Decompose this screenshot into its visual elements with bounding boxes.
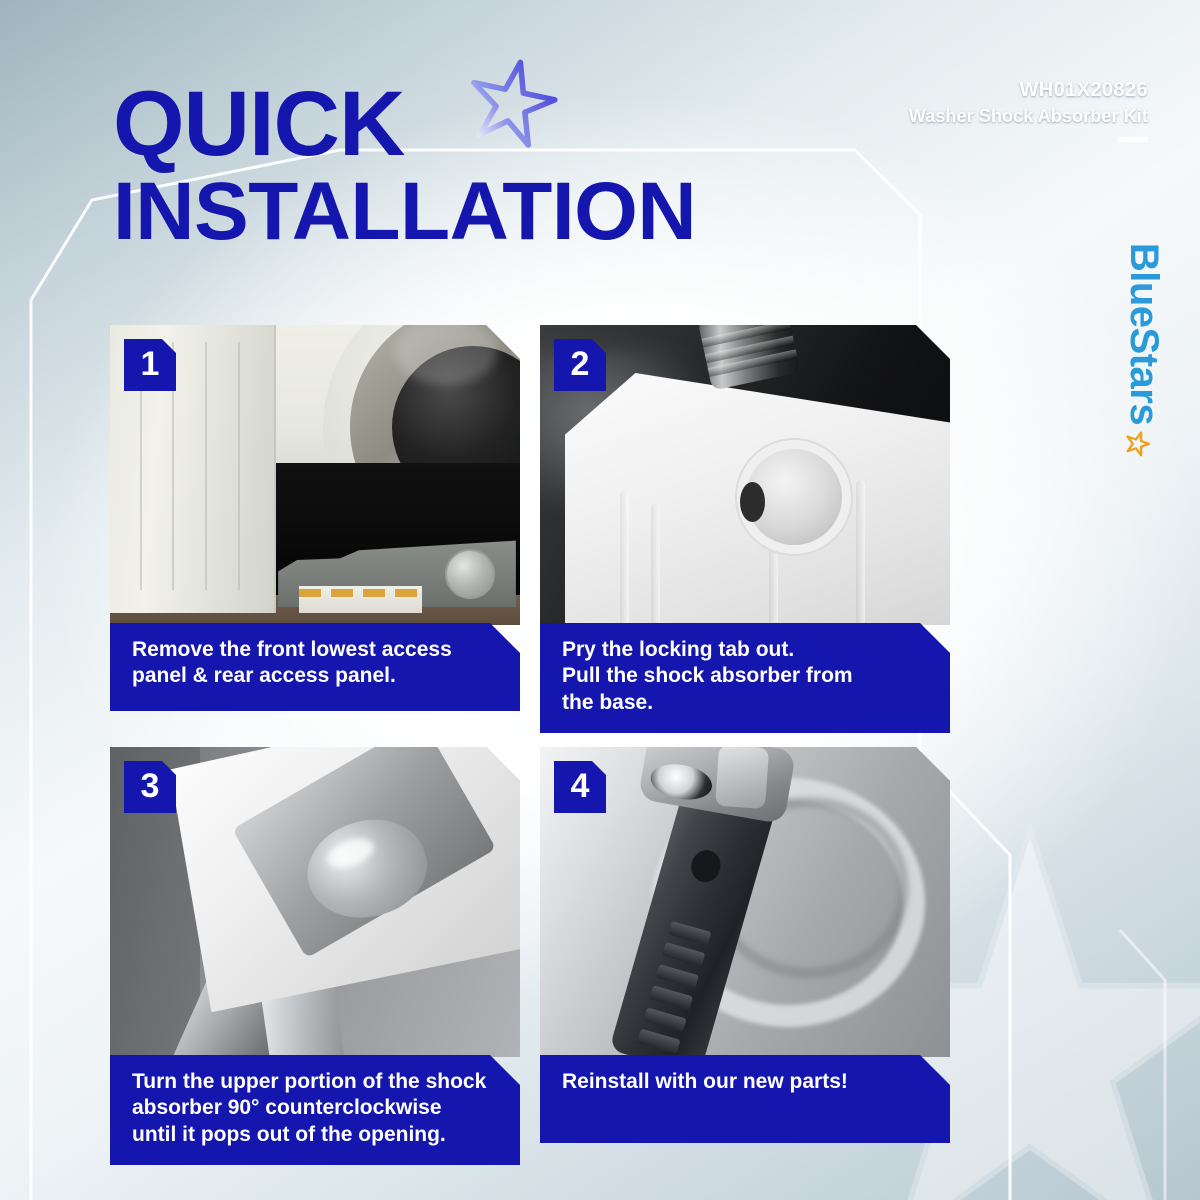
step-number-badge-1: 1 — [124, 339, 176, 391]
step-photo-4: 4 — [540, 747, 950, 1057]
header-rule — [1118, 137, 1148, 142]
product-name: Washer Shock Absorber Kit — [909, 104, 1148, 128]
step-card-3: 3 Turn the upper portion of the shock ab… — [110, 747, 520, 1165]
step-number-badge-2: 2 — [554, 339, 606, 391]
infographic-page: WH01X20826 Washer Shock Absorber Kit QUI… — [0, 0, 1200, 1200]
page-title-line-1: QUICK — [113, 82, 696, 168]
page-title-line-2: INSTALLATION — [113, 174, 696, 250]
step-caption-2-line-2: Pull the shock absorber from — [562, 663, 928, 689]
step-caption-1: Remove the front lowest access panel & r… — [110, 623, 520, 711]
step-card-2: 2 Pry the locking tab out. Pull the shoc… — [540, 325, 950, 733]
step-card-4: 4 Reinstall with our new parts! — [540, 747, 950, 1165]
step-caption-4-line-1: Reinstall with our new parts! — [562, 1069, 928, 1095]
brand-star-icon — [1125, 431, 1151, 457]
product-header: WH01X20826 Washer Shock Absorber Kit — [909, 78, 1148, 142]
step-photo-1: 1 — [110, 325, 520, 625]
step-caption-2: Pry the locking tab out. Pull the shock … — [540, 623, 950, 733]
step-card-1: 1 Remove the front lowest access panel &… — [110, 325, 520, 733]
step-caption-3-line-3: until it pops out of the opening. — [132, 1122, 498, 1148]
page-title: QUICK INSTALLATION — [113, 82, 696, 250]
step-caption-3: Turn the upper portion of the shock abso… — [110, 1055, 520, 1165]
sku-code: WH01X20826 — [909, 78, 1148, 103]
step-caption-1-line-2: panel & rear access panel. — [132, 663, 498, 689]
steps-grid: 1 Remove the front lowest access panel &… — [110, 325, 950, 1165]
step-caption-4: Reinstall with our new parts! — [540, 1055, 950, 1143]
step-photo-2: 2 — [540, 325, 950, 625]
title-star-icon — [457, 47, 566, 156]
step-number-badge-4: 4 — [554, 761, 606, 813]
step-number-badge-3: 3 — [124, 761, 176, 813]
step-caption-2-line-3: the base. — [562, 690, 928, 716]
step-caption-3-line-1: Turn the upper portion of the shock — [132, 1069, 498, 1095]
step-photo-3: 3 — [110, 747, 520, 1057]
step-caption-1-line-1: Remove the front lowest access — [132, 637, 498, 663]
brand-name: BlueStars — [1124, 243, 1164, 425]
step-caption-3-line-2: absorber 90° counterclockwise — [132, 1095, 498, 1121]
brand-logo: BlueStars — [1114, 190, 1174, 510]
step-caption-2-line-1: Pry the locking tab out. — [562, 637, 928, 663]
